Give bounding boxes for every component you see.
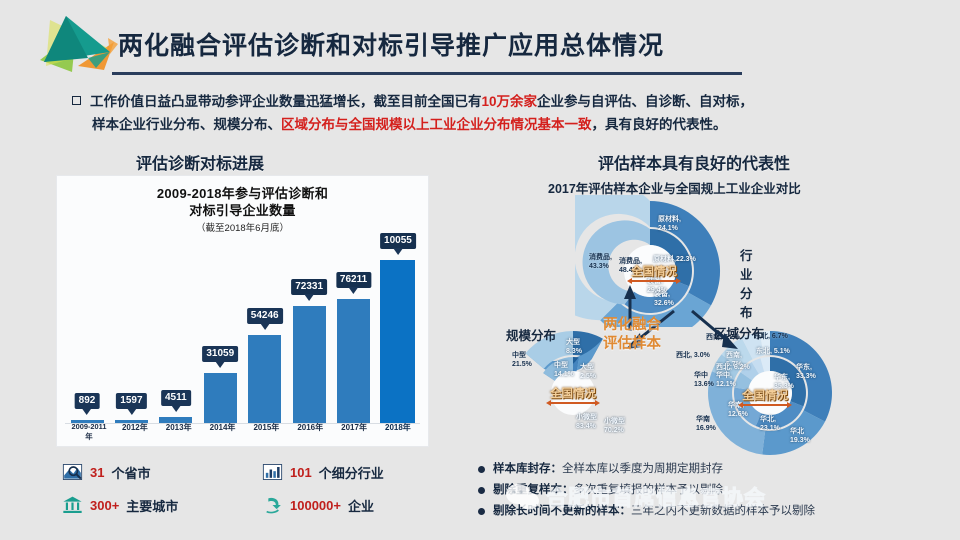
- region-national-label: 全国情况: [742, 387, 788, 406]
- bar-x-label: 2013年: [161, 422, 197, 442]
- header-underline: [112, 72, 742, 75]
- industry-national-text: 全国情况: [631, 266, 677, 278]
- lead-line-2: 样本企业行业分布、规模分布、区域分布与全国规模以上工业企业分布情况基本一致，具有…: [92, 113, 932, 136]
- bar-chart-title-line2: 对标引导企业数量: [57, 202, 428, 219]
- bar-chart-icon: [262, 462, 283, 482]
- sample-center-label: 两化融合 评估样本: [572, 316, 692, 354]
- bar: [293, 306, 326, 424]
- bar: [380, 260, 415, 424]
- square-bullet-icon: [72, 96, 81, 105]
- scale-donut-title: 规模分布: [506, 325, 556, 344]
- region-national-text: 全国情况: [742, 390, 788, 402]
- bullet-row: 剔除长时间不更新的样本：三年之内不更新数据的样本予以剔除: [478, 504, 948, 519]
- bar-value-label: 54246: [247, 308, 283, 324]
- bar-column: 10055: [380, 244, 416, 424]
- kpi-grid: 31个省市101个细分行业300+主要城市100000+企业: [62, 462, 462, 515]
- industry-outer-label-consumer: 消费品,43.3%: [589, 253, 612, 271]
- lead-line-1: 工作价值日益凸显带动参评企业数量迅猛增长，截至目前全国已有10万余家企业参与自评…: [72, 90, 932, 113]
- bar-value-label: 31059: [202, 346, 238, 362]
- bullet-row: 样本库封存：全样本库以季度为周期定期封存: [478, 462, 948, 477]
- triangular-prism-logo: [26, 8, 126, 88]
- industry-outer-label-raw: 原材料,24.1%: [658, 215, 681, 233]
- kpi-text: 企业: [348, 496, 374, 515]
- region-outer-label-central: 华中13.6%: [694, 371, 714, 389]
- bar: [204, 373, 237, 424]
- lead-line1-a: 工作价值日益凸显带动参评企业数量迅猛增长，截至目前全国已有: [90, 94, 482, 109]
- bar-series: 892159745113105954246723317621110055: [65, 244, 420, 424]
- bullet-text: 多次重复填报的样本予以剔除: [574, 484, 724, 496]
- bar-x-label: 2015年: [248, 422, 284, 442]
- scale-national-text: 全国情况: [550, 388, 596, 400]
- region-inner-label-northeast: 东北, 5.1%: [756, 347, 790, 356]
- bullet-label: 剔除长时间不更新的样本：: [493, 505, 631, 517]
- bar-column: 76211: [336, 244, 372, 424]
- kpi-number: 31: [90, 465, 104, 480]
- bar-value-label: 4511: [161, 390, 191, 406]
- bar-value-label: 72331: [291, 279, 327, 295]
- bar-x-label: 2017年: [336, 422, 372, 442]
- right-panel-heading: 评估样本具有良好的代表性: [598, 150, 790, 174]
- bullet-label: 样本库封存：: [493, 463, 562, 475]
- bar-chart-card: 2009-2018年参与评估诊断和 对标引导企业数量 （截至2018年6月底） …: [57, 176, 428, 446]
- page-title: 两化融合评估诊断和对标引导推广应用总体情况: [118, 26, 664, 62]
- donut-charts-area: 原材料,24.1% 消费品,43.3% 装备,32.6% 原材料,22.3% 消…: [470, 195, 960, 460]
- bar-x-label: 2018年: [380, 422, 416, 442]
- bar-chart-subtitle: （截至2018年6月底）: [57, 220, 428, 234]
- bullet-text: 三年之内不更新数据的样本予以剔除: [631, 505, 815, 517]
- lead-line2-a: 样本企业行业分布、规模分布、: [92, 117, 281, 132]
- industry-national-rule: [631, 280, 677, 282]
- kpi-text: 主要城市: [126, 496, 178, 515]
- bar-column: 54246: [247, 244, 283, 424]
- bullet-list: 样本库封存：全样本库以季度为周期定期封存剔除重复样本：多次重复填报的样本予以剔除…: [478, 462, 948, 525]
- scale-inner-label-medium: 中型14.1%: [554, 361, 574, 379]
- lead-line1-b: 企业参与自评估、自诊断、自对标，: [537, 94, 753, 109]
- kpi-item: 300+主要城市: [62, 495, 262, 515]
- lead-line2-b: ，具有良好的代表性。: [592, 117, 727, 132]
- lead-line1-highlight: 10万余家: [482, 94, 538, 109]
- kpi-number: 300+: [90, 498, 119, 513]
- region-outer-label-east: 华东,33.3%: [796, 363, 816, 381]
- bar-value-label: 1597: [116, 393, 146, 409]
- bar-x-label: 2016年: [292, 422, 328, 442]
- sample-center-line2: 评估样本: [572, 335, 692, 354]
- bar-chart-title: 2009-2018年参与评估诊断和 对标引导企业数量: [57, 176, 428, 219]
- bar-column: 892: [69, 244, 105, 424]
- scale-inner-label-large: 大型2.5%: [580, 363, 596, 381]
- lead-line2-highlight: 区域分布与全国规模以上工业企业分布情况基本一致: [281, 117, 592, 132]
- bullet-dot-icon: [478, 508, 485, 515]
- bar-chart-plot: 892159745113105954246723317621110055: [65, 244, 420, 424]
- left-panel-heading: 评估诊断对标进展: [136, 150, 264, 174]
- kpi-text: 个细分行业: [319, 463, 384, 482]
- bar-column: 4511: [158, 244, 194, 424]
- bullet-row: 剔除重复样本：多次重复填报的样本予以剔除: [478, 483, 948, 498]
- bar-value-label: 892: [75, 393, 100, 409]
- bullet-text: 全样本库以季度为周期定期封存: [562, 463, 723, 475]
- region-inner-label-central: 华中,12.1%: [716, 371, 736, 389]
- region-outer-label-south: 华南16.9%: [696, 415, 716, 433]
- bar-x-label: 2009-2011年: [69, 422, 109, 442]
- scale-inner-label-small: 小微型83.4%: [576, 413, 597, 431]
- kpi-item: 101个细分行业: [262, 462, 462, 482]
- bullet-label: 剔除重复样本：: [493, 484, 574, 496]
- kpi-number: 101: [290, 465, 312, 480]
- bar-column: 72331: [291, 244, 327, 424]
- microscope-icon: [262, 495, 283, 515]
- scale-national-rule: [550, 402, 596, 404]
- bar-value-label: 76211: [336, 272, 371, 288]
- scale-outer-label-small: 小微型70.2%: [604, 417, 625, 435]
- bar: [337, 299, 370, 424]
- bar-x-label: 2012年: [117, 422, 153, 442]
- kpi-number: 100000+: [290, 498, 341, 513]
- bar-column: 1597: [113, 244, 149, 424]
- region-arrow-icon: [686, 307, 746, 353]
- bullet-dot-icon: [478, 487, 485, 494]
- industry-donut: 原材料,24.1% 消费品,43.3% 装备,32.6% 原材料,22.3% 消…: [575, 195, 725, 325]
- kpi-text: 个省市: [111, 463, 150, 482]
- slide-root: 两化融合评估诊断和对标引导推广应用总体情况 工作价值日益凸显带动参评企业数量迅猛…: [0, 0, 960, 540]
- industry-national-label: 全国情况: [631, 263, 677, 282]
- lead-paragraph: 工作价值日益凸显带动参评企业数量迅猛增长，截至目前全国已有10万余家企业参与自评…: [72, 90, 932, 136]
- region-inner-label-northwest: 西北, 6.2%: [716, 363, 750, 372]
- bar-chart-x-labels: 2009-2011年2012年2013年2014年2015年2016年2017年…: [65, 422, 420, 442]
- region-national-rule: [742, 404, 788, 406]
- bank-building-icon: [62, 495, 83, 515]
- bar-column: 31059: [202, 244, 238, 424]
- kpi-item: 31个省市: [62, 462, 262, 482]
- bar-chart-title-line1: 2009-2018年参与评估诊断和: [57, 185, 428, 202]
- bullet-dot-icon: [478, 466, 485, 473]
- bar-x-label: 2014年: [205, 422, 241, 442]
- region-outer-label-north: 华北19.3%: [790, 427, 810, 445]
- region-inner-label-north: 华北,23.1%: [760, 415, 780, 433]
- scale-national-label: 全国情况: [550, 385, 596, 404]
- bar: [248, 335, 281, 424]
- bar-value-label: 10055: [380, 233, 416, 249]
- magnifier-map-icon: [62, 462, 83, 482]
- kpi-item: 100000+企业: [262, 495, 462, 515]
- scale-outer-label-medium: 中型21.5%: [512, 351, 532, 369]
- sample-center-line1: 两化融合: [572, 316, 692, 335]
